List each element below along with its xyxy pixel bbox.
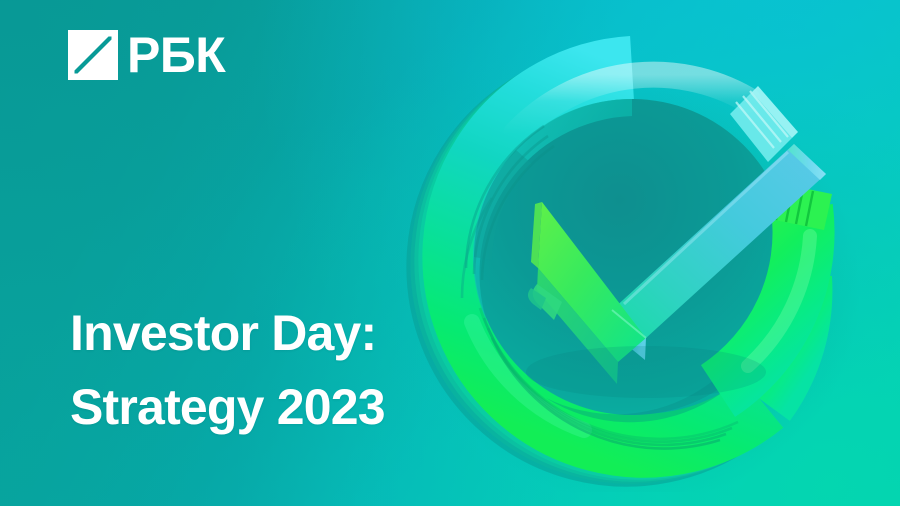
rbc-logo-text: РБК <box>127 30 225 80</box>
sber-ring-checkmark-emblem <box>396 22 866 492</box>
title-card: РБК Investor Day: Strategy 2023 <box>0 0 900 506</box>
page-title: Investor Day: Strategy 2023 <box>70 296 385 444</box>
sber-ring-checkmark-3d-icon <box>396 22 866 492</box>
page-title-line-1: Investor Day: <box>70 296 385 370</box>
rbc-slash-square-mark-icon <box>68 30 118 80</box>
page-title-line-2: Strategy 2023 <box>70 370 385 444</box>
rbc-logo: РБК <box>68 29 225 81</box>
